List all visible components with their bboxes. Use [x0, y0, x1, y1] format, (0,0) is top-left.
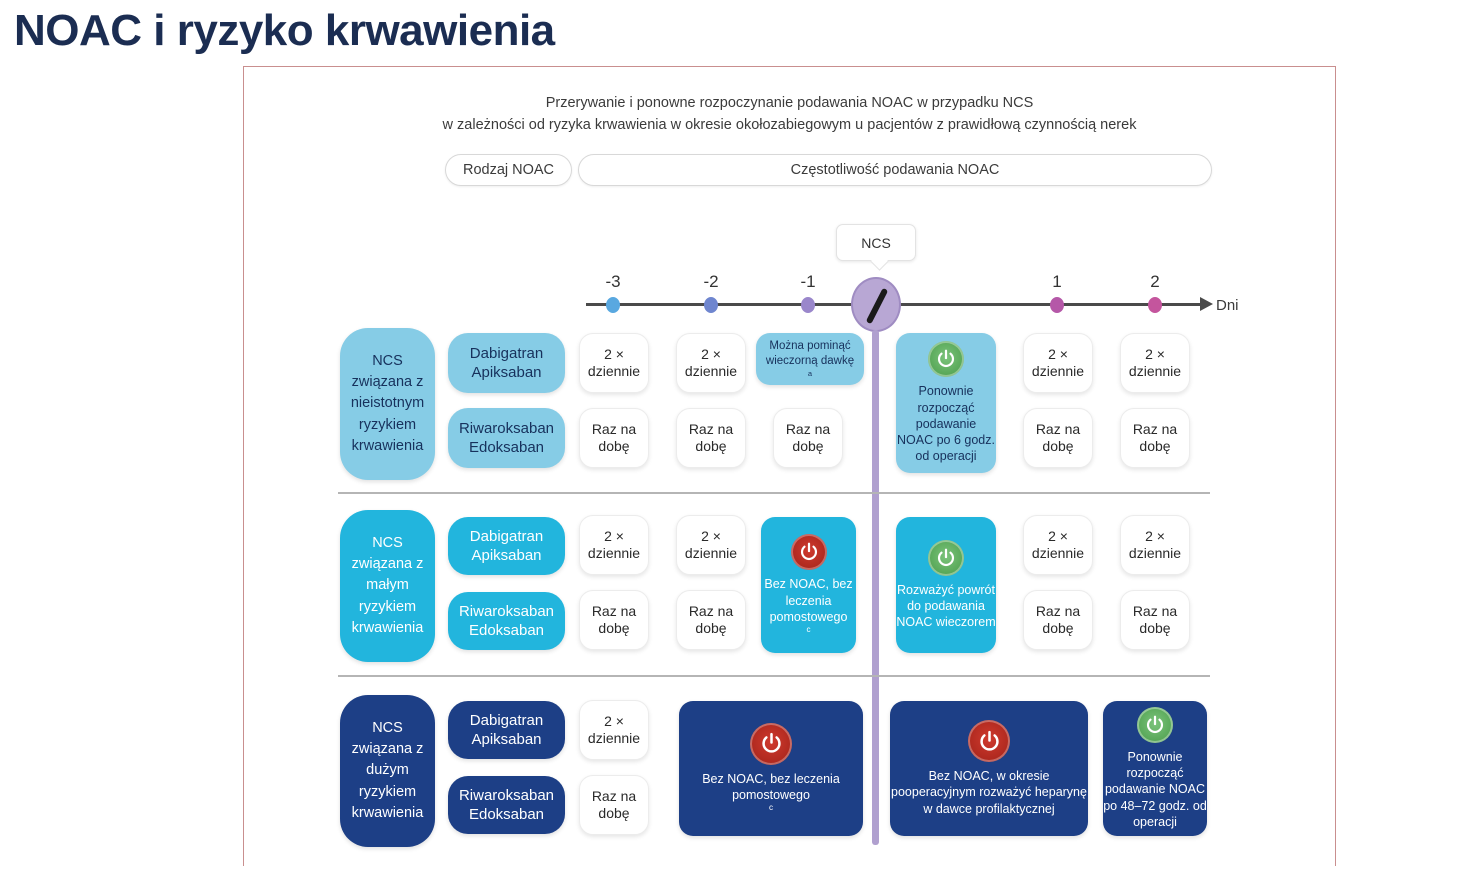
risk-label-insignificant: NCS związana z nieistotnym ryzykiem krwa…	[340, 328, 435, 480]
tick-label-minus2: -2	[703, 272, 718, 292]
power-green-icon	[1137, 707, 1173, 743]
dose-cell-row2-p2-od: Raz na dobę	[1120, 590, 1190, 650]
drug-group-dabigatran-apiksaban-row1: Dabigatran Apiksaban	[448, 333, 565, 393]
footnote-marker: c	[769, 803, 773, 814]
axis-unit-label: Dni	[1216, 297, 1239, 314]
risk-label-low: NCS związana z małym ryzykiem krwawienia	[340, 510, 435, 662]
footnote-marker: c	[806, 625, 810, 636]
action-cell-row1-restart-noac: Ponownie rozpocząć podawanie NOAC po 6 g…	[896, 333, 996, 473]
action-cell-row2-resume-noac: Rozważyć powrót do podawania NOAC wieczo…	[896, 517, 996, 653]
dose-cell-row3-d3-od: Raz na dobę	[579, 775, 649, 835]
dose-cell-row1-d3-od: Raz na dobę	[579, 408, 649, 468]
dose-cell-row1-p2-od: Raz na dobę	[1120, 408, 1190, 468]
dose-cell-row1-d3-bid: 2 × dziennie	[579, 333, 649, 393]
action-cell-row3-restart-noac: Ponownie rozpocząć podawanie NOAC po 48–…	[1103, 701, 1207, 836]
dose-cell-row2-p1-bid: 2 × dziennie	[1023, 515, 1093, 575]
dose-cell-row2-d3-bid: 2 × dziennie	[579, 515, 649, 575]
dose-cell-row2-d2-od: Raz na dobę	[676, 590, 746, 650]
action-cell-row2-stop-noac: Bez NOAC, bez leczenia pomostowegoc	[761, 517, 856, 653]
power-red-icon	[750, 723, 792, 765]
action-text: Bez NOAC, bez leczenia pomostowego	[761, 576, 856, 625]
drug-group-riwaroksaban-edoksaban-row2: Riwaroksaban Edoksaban	[448, 592, 565, 650]
footnote-marker: a	[808, 369, 812, 379]
header-pill-noac-frequency: Częstotliwość podawania NOAC	[578, 154, 1212, 186]
tick-label-minus3: -3	[605, 272, 620, 292]
subtitle-line-1: Przerywanie i ponowne rozpoczynanie poda…	[243, 92, 1336, 114]
timeline-arrow-icon	[1200, 297, 1213, 311]
dose-cell-row2-p2-bid: 2 × dziennie	[1120, 515, 1190, 575]
subtitle: Przerywanie i ponowne rozpoczynanie poda…	[243, 92, 1336, 137]
dose-cell-row2-p1-od: Raz na dobę	[1023, 590, 1093, 650]
tick-label-plus1: 1	[1052, 272, 1061, 292]
action-text: Bez NOAC, w okresie pooperacyjnym rozważ…	[890, 768, 1088, 817]
note-text: Można pominąć wieczorną dawkę	[756, 339, 864, 369]
power-red-icon	[791, 534, 827, 570]
tick-label-plus2: 2	[1150, 272, 1159, 292]
page-title: NOAC i ryzyko krwawienia	[14, 6, 555, 56]
dose-cell-row1-d1-od: Raz na dobę	[773, 408, 843, 468]
dose-cell-row1-p2-bid: 2 × dziennie	[1120, 333, 1190, 393]
power-red-icon	[968, 720, 1010, 762]
tick-dot-minus3	[606, 297, 620, 313]
action-cell-row3-stop-noac: Bez NOAC, bez leczenia pomostowegoc	[679, 701, 863, 836]
drug-group-dabigatran-apiksaban-row3: Dabigatran Apiksaban	[448, 701, 565, 759]
drug-group-riwaroksaban-edoksaban-row1: Riwaroksaban Edoksaban	[448, 408, 565, 468]
tick-dot-plus1	[1050, 297, 1064, 313]
header-pill-noac-type: Rodzaj NOAC	[445, 154, 572, 186]
risk-label-high: NCS związana z dużym ryzykiem krwawienia	[340, 695, 435, 847]
action-cell-row3-heparin-bridge: Bez NOAC, w okresie pooperacyjnym rozważ…	[890, 701, 1088, 836]
action-text: Rozważyć powrót do podawania NOAC wieczo…	[896, 582, 996, 631]
action-text: Bez NOAC, bez leczenia pomostowego	[679, 771, 863, 804]
action-text: Ponownie rozpocząć podawanie NOAC po 6 g…	[896, 383, 996, 464]
ncs-callout: NCS	[836, 224, 916, 261]
power-green-icon	[928, 540, 964, 576]
scalpel-blade-icon	[866, 288, 889, 325]
tick-dot-minus1	[801, 297, 815, 313]
dose-cell-row1-d2-od: Raz na dobę	[676, 408, 746, 468]
subtitle-line-2: w zależności od ryzyka krwawienia w okre…	[243, 114, 1336, 136]
dose-cell-row1-p1-od: Raz na dobę	[1023, 408, 1093, 468]
row-separator-1	[338, 492, 1210, 494]
dose-cell-row3-d3-bid: 2 × dziennie	[579, 700, 649, 760]
tick-label-minus1: -1	[800, 272, 815, 292]
action-text: Ponownie rozpocząć podawanie NOAC po 48–…	[1103, 749, 1207, 830]
dose-cell-row1-p1-bid: 2 × dziennie	[1023, 333, 1093, 393]
tick-dot-plus2	[1148, 297, 1162, 313]
dose-cell-row2-d3-od: Raz na dobę	[579, 590, 649, 650]
drug-group-dabigatran-apiksaban-row2: Dabigatran Apiksaban	[448, 517, 565, 575]
ncs-surgery-marker-icon	[851, 277, 901, 332]
drug-group-riwaroksaban-edoksaban-row3: Riwaroksaban Edoksaban	[448, 776, 565, 834]
ncs-vertical-divider	[872, 330, 879, 845]
tick-dot-minus2	[704, 297, 718, 313]
power-green-icon	[928, 341, 964, 377]
note-cell-row1-d1-skip-evening: Można pominąć wieczorną dawkęa	[756, 333, 864, 385]
dose-cell-row1-d2-bid: 2 × dziennie	[676, 333, 746, 393]
dose-cell-row2-d2-bid: 2 × dziennie	[676, 515, 746, 575]
row-separator-2	[338, 675, 1210, 677]
